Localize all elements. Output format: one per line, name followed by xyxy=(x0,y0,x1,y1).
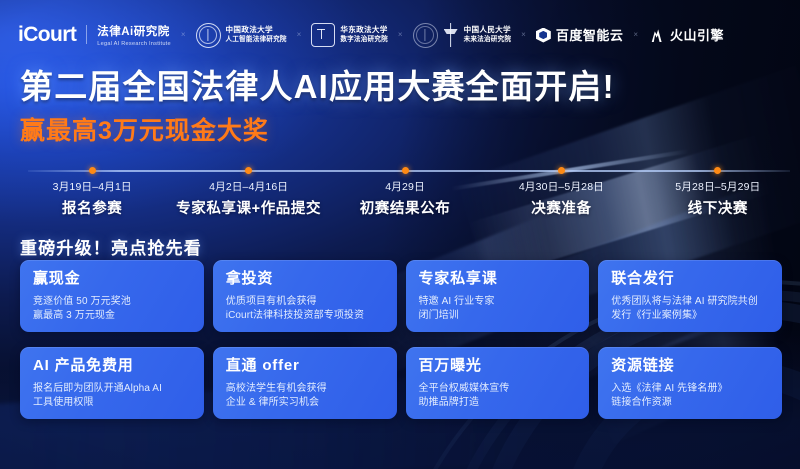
highlight-card-desc-line2: 助推品牌打造 xyxy=(419,396,577,411)
highlight-card-desc-line1: 全平台权威媒体宣传 xyxy=(419,382,577,397)
timeline-date: 5月28日–5月29日 xyxy=(675,179,760,194)
timeline-stage: 5月28日–5月29日 线下决赛 xyxy=(640,160,796,218)
timeline-date: 4月2日–4月16日 xyxy=(209,179,288,194)
highlight-card-desc: 优秀团队将与法律 AI 研究院共创 发行《行业案例集》 xyxy=(611,295,769,324)
timeline-date: 4月29日 xyxy=(385,179,425,194)
logo-volcano-engine: 火山引擎 xyxy=(648,28,724,42)
highlight-card-title: 专家私享课 xyxy=(419,271,577,288)
timeline-stage: 4月29日 初赛结果公布 xyxy=(327,160,483,218)
timeline-dot-icon xyxy=(714,167,721,174)
highlight-card-desc: 竞逐价值 50 万元奖池 赢最高 3 万元现金 xyxy=(33,295,191,324)
logo-ecupl-text: 华东政法大学 数字法治研究院 xyxy=(340,25,388,44)
university-mark-icon xyxy=(311,23,335,47)
highlight-card[interactable]: 百万曝光 全平台权威媒体宣传 助推品牌打造 xyxy=(406,347,590,419)
highlights-section-title: 重磅升级！亮点抢先看 xyxy=(20,234,202,259)
highlight-card-title: 联合发行 xyxy=(611,271,769,288)
highlight-card[interactable]: 联合发行 优秀团队将与法律 AI 研究院共创 发行《行业案例集》 xyxy=(598,260,782,332)
timeline-stage: 4月2日–4月16日 专家私享课+作品提交 xyxy=(170,160,326,218)
timeline-date: 3月19日–4月1日 xyxy=(53,179,132,194)
highlight-card-desc: 优质项目有机会获得 iCourt法律科技投资部专项投资 xyxy=(226,295,384,324)
logo-separator-icon: × xyxy=(296,31,303,39)
highlight-card-desc-line1: 优质项目有机会获得 xyxy=(226,295,384,310)
event-timeline: 3月19日–4月1日 报名参赛 4月2日–4月16日 专家私享课+作品提交 4月… xyxy=(0,160,800,218)
logo-cupl: 中国政法大学 人工智能法律研究院 xyxy=(196,23,287,48)
highlight-card-desc: 报名后即为团队开通Alpha AI 工具使用权限 xyxy=(33,382,191,411)
logo-separator-icon: × xyxy=(632,31,639,39)
highlight-card-title: AI 产品免费用 xyxy=(33,358,191,375)
page-title: 第二届全国法律人AI应用大赛全面开启! xyxy=(20,68,615,106)
highlight-card-desc-line2: 链接合作资源 xyxy=(611,396,769,411)
highlight-card-desc-line2: 闭门培训 xyxy=(419,309,577,324)
icourt-institute-cn: 法律Ai研究院 xyxy=(97,26,170,38)
logo-baidu-ai-cloud: 百度智能云 xyxy=(536,28,624,43)
highlight-card-desc-line1: 竞逐价值 50 万元奖池 xyxy=(33,295,191,310)
logo-separator-icon: × xyxy=(180,31,187,39)
highlight-card-desc-line2: iCourt法律科技投资部专项投资 xyxy=(226,309,384,324)
logo-ruc-name: 中国人民大学 xyxy=(464,25,512,35)
icourt-institute-en: Legal AI Research Institute xyxy=(97,41,171,48)
university-seal-icon xyxy=(413,23,438,48)
page-subtitle: 赢最高3万元现金大奖 xyxy=(20,116,269,146)
volcano-mountain-icon xyxy=(648,28,665,42)
logo-separator-icon: × xyxy=(397,31,404,39)
logo-icourt: iCourt 法律Ai研究院 Legal AI Research Institu… xyxy=(18,22,171,48)
highlight-card[interactable]: 直通 offer 高校法学生有机会获得 企业 & 律所实习机会 xyxy=(213,347,397,419)
highlight-card[interactable]: 赢现金 竞逐价值 50 万元奖池 赢最高 3 万元现金 xyxy=(20,260,204,332)
timeline-label: 专家私享课+作品提交 xyxy=(176,197,321,218)
highlight-card-desc-line2: 工具使用权限 xyxy=(33,396,191,411)
highlight-card-desc: 高校法学生有机会获得 企业 & 律所实习机会 xyxy=(226,382,384,411)
icourt-institute-name: 法律Ai研究院 Legal AI Research Institute xyxy=(97,22,171,48)
highlight-card[interactable]: AI 产品免费用 报名后即为团队开通Alpha AI 工具使用权限 xyxy=(20,347,204,419)
highlight-card-title: 拿投资 xyxy=(226,271,384,288)
timeline-dot-icon xyxy=(402,167,409,174)
highlight-card-desc-line1: 优秀团队将与法律 AI 研究院共创 xyxy=(611,295,769,310)
logo-cupl-name: 中国政法大学 xyxy=(226,25,287,35)
timeline-dot-icon xyxy=(558,167,565,174)
highlight-card-title: 直通 offer xyxy=(226,358,384,375)
promo-poster: iCourt 法律Ai研究院 Legal AI Research Institu… xyxy=(0,0,800,469)
highlight-card-desc-line2: 企业 & 律所实习机会 xyxy=(226,396,384,411)
partner-logo-bar: iCourt 法律Ai研究院 Legal AI Research Institu… xyxy=(18,16,724,54)
highlight-card[interactable]: 资源链接 入选《法律 AI 先锋名册》 链接合作资源 xyxy=(598,347,782,419)
highlight-card-desc-line1: 特邀 AI 行业专家 xyxy=(419,295,577,310)
logo-ruc-sub: 未来法治研究院 xyxy=(464,36,512,43)
ruc-tower-icon xyxy=(443,23,459,47)
timeline-label: 报名参赛 xyxy=(62,197,122,218)
highlight-card-desc: 入选《法律 AI 先锋名册》 链接合作资源 xyxy=(611,382,769,411)
timeline-stage: 3月19日–4月1日 报名参赛 xyxy=(14,160,170,218)
highlight-card-desc-line1: 报名后即为团队开通Alpha AI xyxy=(33,382,191,397)
logo-volcano-label: 火山引擎 xyxy=(670,29,724,42)
logo-cupl-sub: 人工智能法律研究院 xyxy=(226,36,287,43)
highlight-card[interactable]: 专家私享课 特邀 AI 行业专家 闭门培训 xyxy=(406,260,590,332)
highlight-card[interactable]: 拿投资 优质项目有机会获得 iCourt法律科技投资部专项投资 xyxy=(213,260,397,332)
logo-ecupl-name: 华东政法大学 xyxy=(340,25,388,35)
timeline-label: 线下决赛 xyxy=(688,197,748,218)
logo-cupl-text: 中国政法大学 人工智能法律研究院 xyxy=(226,25,287,44)
logo-separator-icon: × xyxy=(520,31,527,39)
timeline-stage: 4月30日–5月28日 决赛准备 xyxy=(483,160,639,218)
highlight-card-desc-line2: 发行《行业案例集》 xyxy=(611,309,769,324)
highlight-card-desc: 全平台权威媒体宣传 助推品牌打造 xyxy=(419,382,577,411)
highlight-card-title: 资源链接 xyxy=(611,358,769,375)
logo-divider xyxy=(86,25,87,44)
timeline-label: 决赛准备 xyxy=(531,197,591,218)
icourt-wordmark: iCourt xyxy=(18,24,76,45)
highlight-card-title: 赢现金 xyxy=(33,271,191,288)
highlight-card-desc: 特邀 AI 行业专家 闭门培训 xyxy=(419,295,577,324)
highlight-card-title: 百万曝光 xyxy=(419,358,577,375)
highlight-card-desc-line1: 高校法学生有机会获得 xyxy=(226,382,384,397)
timeline-date: 4月30日–5月28日 xyxy=(519,179,604,194)
timeline-label: 初赛结果公布 xyxy=(360,197,451,218)
logo-ecupl: 华东政法大学 数字法治研究院 xyxy=(311,23,388,47)
baidu-hexagon-icon xyxy=(536,28,551,43)
highlight-card-desc-line2: 赢最高 3 万元现金 xyxy=(33,309,191,324)
highlight-card-grid: 赢现金 竞逐价值 50 万元奖池 赢最高 3 万元现金 拿投资 优质项目有机会获… xyxy=(20,260,782,419)
timeline-items: 3月19日–4月1日 报名参赛 4月2日–4月16日 专家私享课+作品提交 4月… xyxy=(14,160,796,218)
university-seal-icon xyxy=(196,23,221,48)
highlight-card-desc-line1: 入选《法律 AI 先锋名册》 xyxy=(611,382,769,397)
logo-ecupl-sub: 数字法治研究院 xyxy=(340,36,388,43)
logo-ruc-text: 中国人民大学 未来法治研究院 xyxy=(464,25,512,44)
timeline-dot-icon xyxy=(245,167,252,174)
logo-baidu-label: 百度智能云 xyxy=(556,29,624,42)
timeline-dot-icon xyxy=(89,167,96,174)
logo-ruc: 中国人民大学 未来法治研究院 xyxy=(413,23,512,48)
